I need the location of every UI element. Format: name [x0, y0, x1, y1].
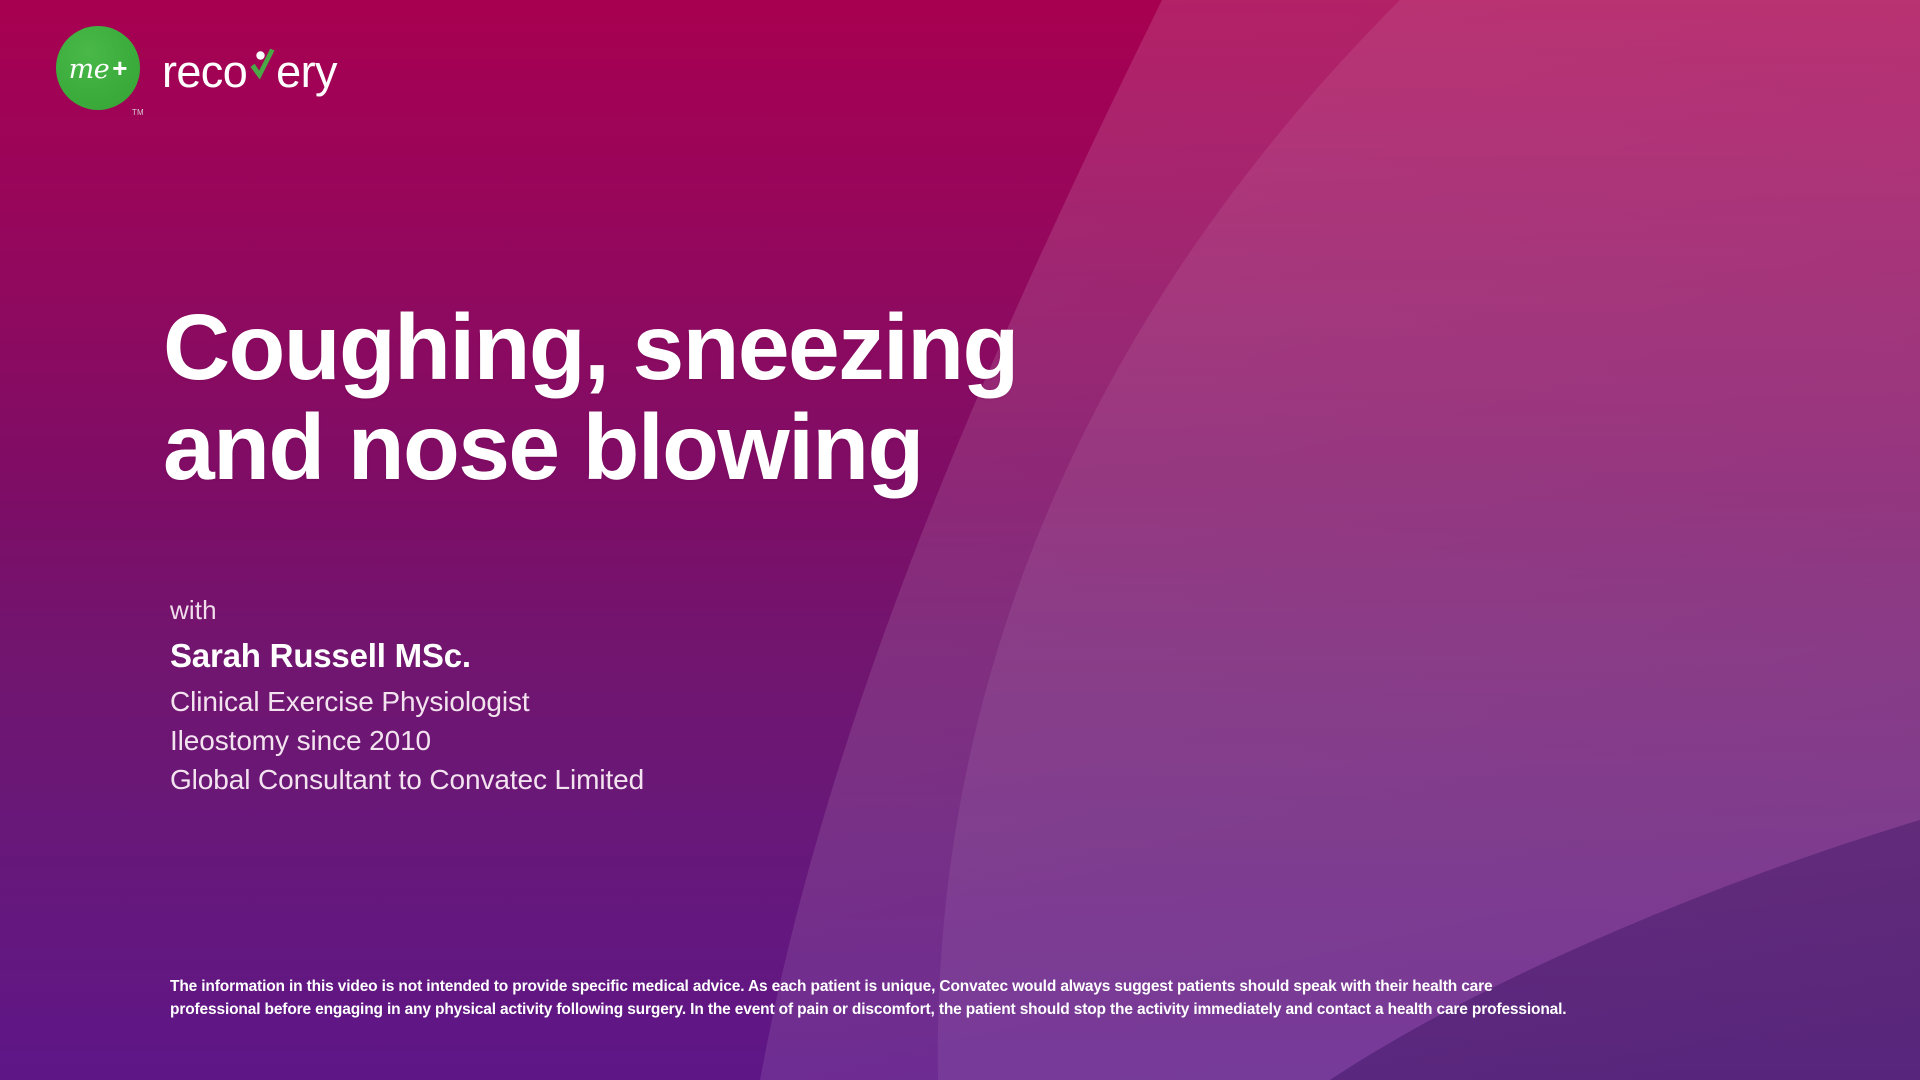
check-mark-icon: [246, 43, 277, 87]
curve-bottom-right: [1330, 820, 1920, 1080]
logo-me-text: me: [69, 56, 110, 83]
slide-title-line1: Coughing, sneezing: [163, 295, 1018, 399]
trademark-symbol: TM: [132, 108, 144, 117]
medical-disclaimer: The information in this video is not int…: [170, 975, 1590, 1022]
speaker-name: Sarah Russell MSc.: [170, 635, 644, 678]
slide-title-line2: and nose blowing: [163, 398, 1203, 498]
speaker-block: with Sarah Russell MSc. Clinical Exercis…: [170, 594, 644, 799]
speaker-credential-3: Global Consultant to Convatec Limited: [170, 761, 644, 800]
curve-inner: [938, 0, 1920, 1080]
logo-word-part2: ery: [276, 49, 337, 94]
speaker-credential-2: Ileostomy since 2010: [170, 722, 644, 761]
logo-word-part1: reco: [162, 49, 247, 94]
plus-icon: +: [112, 55, 127, 81]
with-label: with: [170, 594, 644, 627]
presentation-slide: me + TM reco ery Coughing, sneezing and …: [0, 0, 1920, 1080]
speaker-credential-1: Clinical Exercise Physiologist: [170, 683, 644, 722]
logo-circle-icon: me + TM: [56, 26, 140, 110]
logo-wordmark: reco ery: [162, 43, 337, 94]
disclaimer-line2: professional before engaging in any phys…: [170, 998, 1590, 1021]
curve-outer: [760, 0, 1920, 1080]
slide-title: Coughing, sneezing and nose blowing: [163, 298, 1203, 497]
brand-logo[interactable]: me + TM reco ery: [56, 26, 337, 110]
disclaimer-line1: The information in this video is not int…: [170, 975, 1590, 998]
background-curves: [0, 0, 1920, 1080]
